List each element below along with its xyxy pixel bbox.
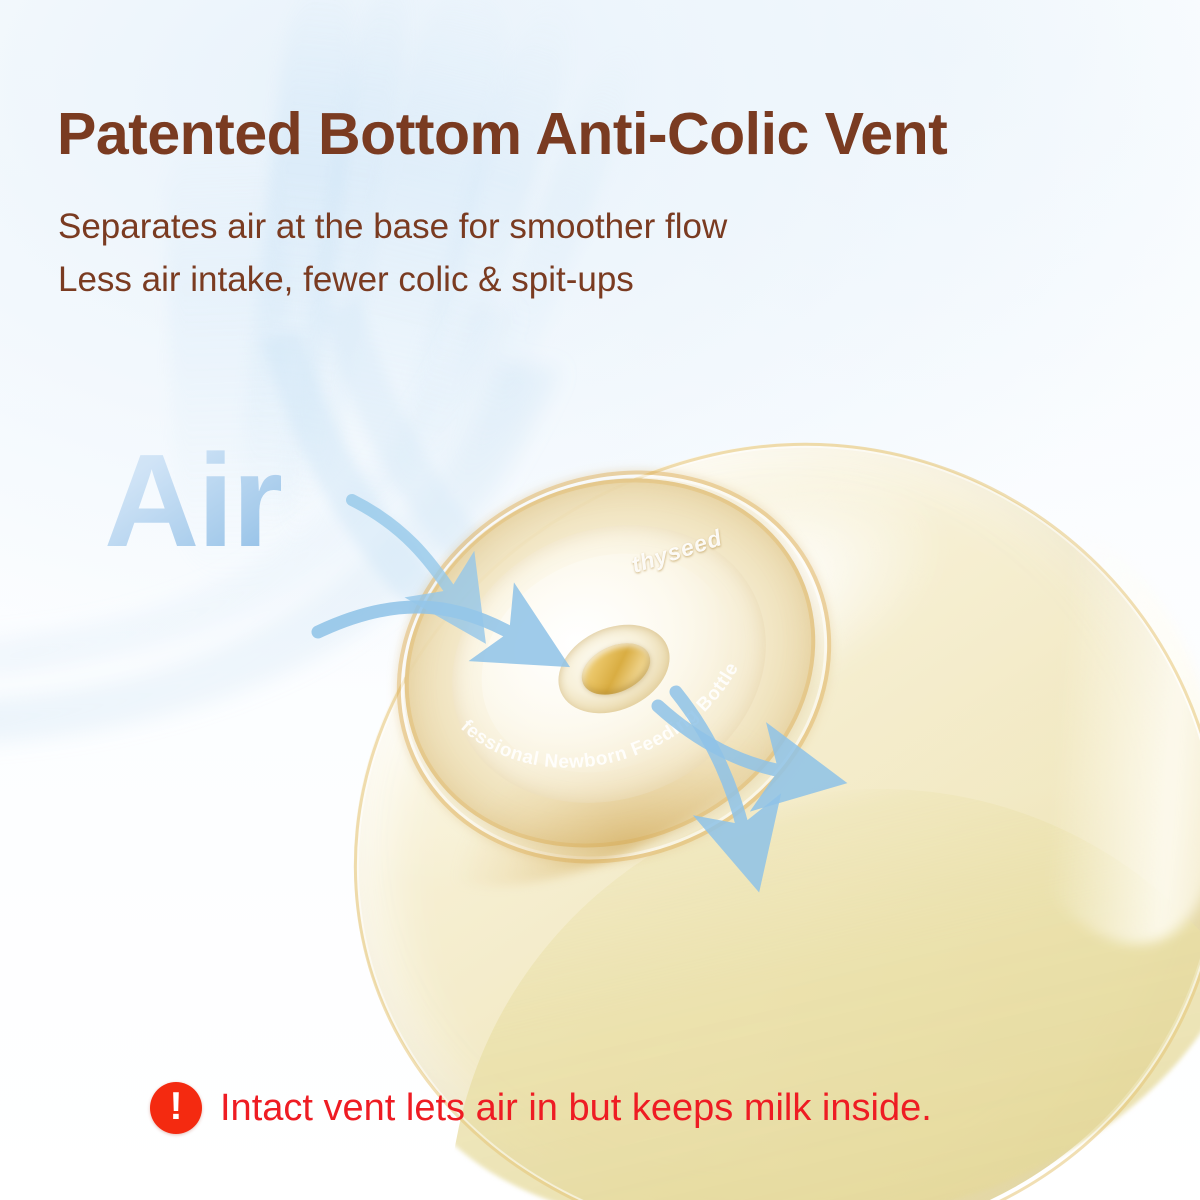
exclamation-glyph: ! xyxy=(170,1087,183,1126)
subtitle-line-1: Separates air at the base for smoother f… xyxy=(58,209,727,244)
caption-text: Intact vent lets air in but keeps milk i… xyxy=(220,1087,932,1130)
promo-banner: Air thyseed Professional Newborn Feeding… xyxy=(0,0,1200,1200)
exclamation-icon: ! xyxy=(150,1082,202,1134)
caption-row: ! Intact vent lets air in but keeps milk… xyxy=(150,1082,932,1134)
subtitle-line-2: Less air intake, fewer colic & spit-ups xyxy=(58,262,634,297)
page-title: Patented Bottom Anti-Colic Vent xyxy=(57,104,947,166)
product-bottle: thyseed Professional Newborn Feeding Bot… xyxy=(0,0,1200,1200)
